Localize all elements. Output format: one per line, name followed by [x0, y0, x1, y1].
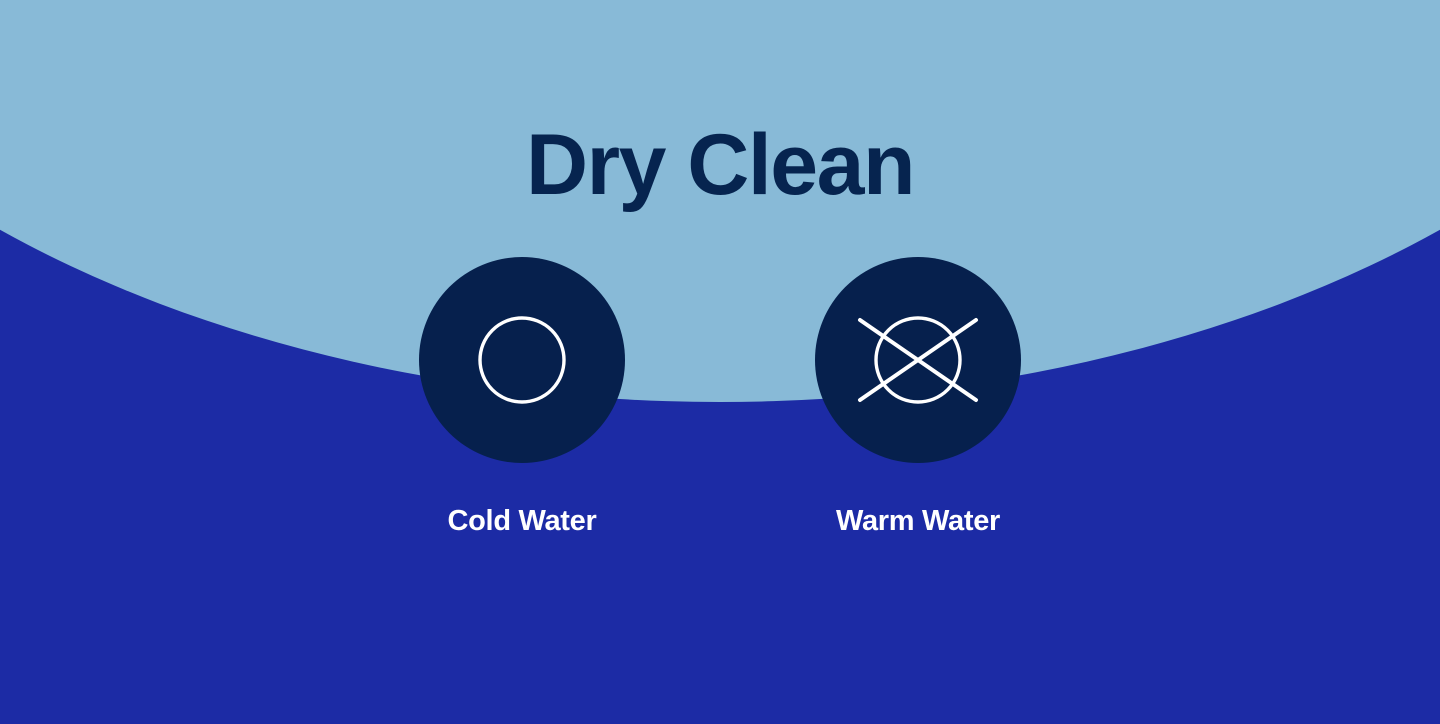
dry-clean-circle-icon — [478, 316, 566, 404]
symbol-disc — [815, 257, 1021, 463]
symbol-item-warm-water: Warm Water — [815, 257, 1021, 538]
do-not-dry-clean-crossed-circle-icon — [858, 316, 978, 404]
care-symbol-infographic: Dry Clean Cold Water — [0, 0, 1440, 724]
symbol-row: Cold Water Warm Water — [0, 257, 1440, 538]
page-title: Dry Clean — [0, 122, 1440, 208]
symbol-label: Warm Water — [836, 505, 1000, 538]
symbol-label: Cold Water — [448, 505, 597, 538]
symbol-item-cold-water: Cold Water — [419, 257, 625, 538]
symbol-disc — [419, 257, 625, 463]
